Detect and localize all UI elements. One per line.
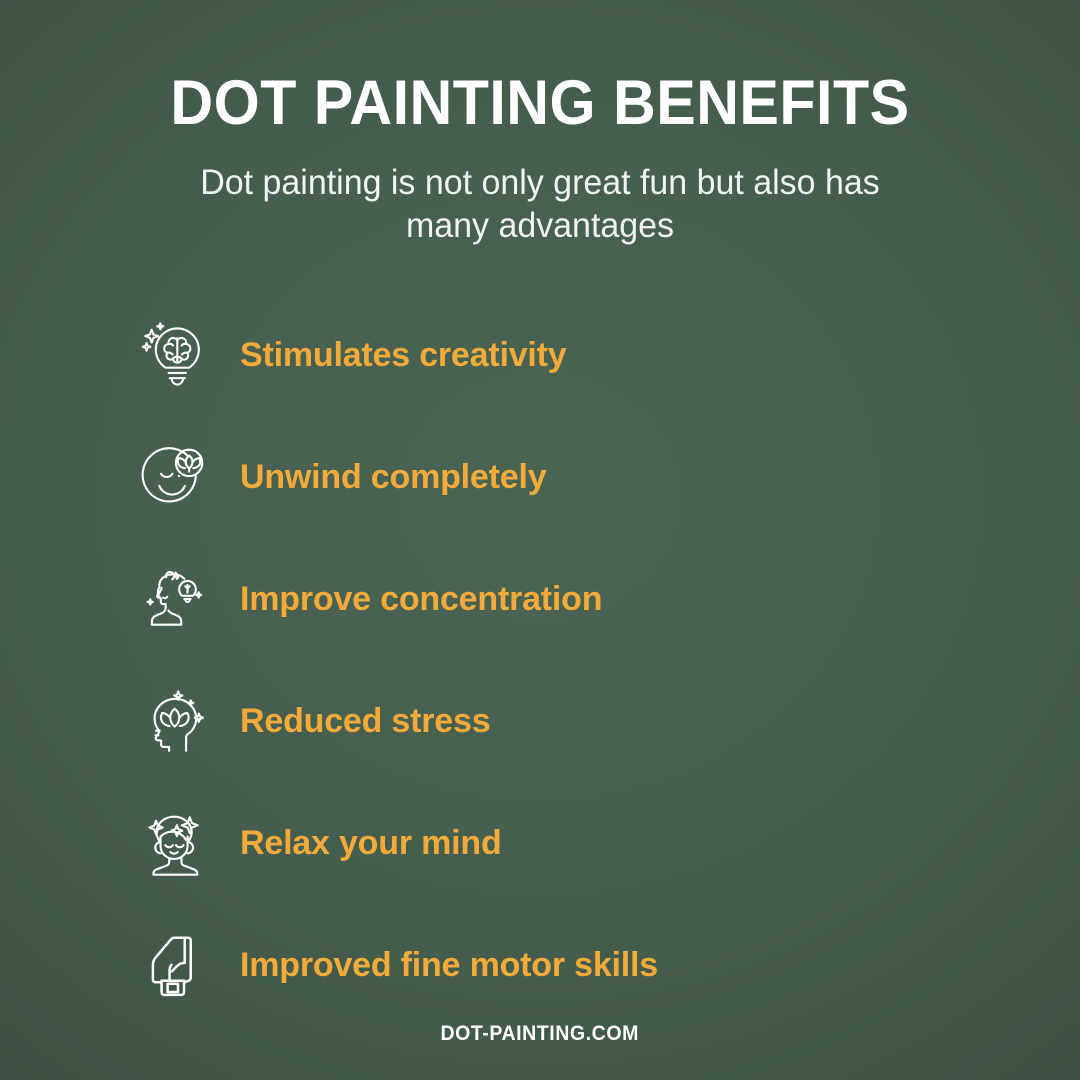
poster-canvas: DOT PAINTING BENEFITS Dot painting is no… [0, 0, 1080, 1080]
website-url: DOT-PAINTING.COM [441, 1022, 639, 1046]
benefit-label: Reduced stress [240, 702, 490, 741]
head-profile-lightbulb-icon [136, 560, 214, 638]
poster-header: DOT PAINTING BENEFITS Dot painting is no… [0, 0, 1080, 248]
list-item: Relax your mind [136, 782, 1036, 904]
benefits-list: Stimulates creativity [136, 294, 1036, 1026]
hand-holding-object-icon [136, 926, 214, 1004]
benefit-label: Unwind completely [240, 458, 546, 497]
page-title: DOT PAINTING BENEFITS [32, 72, 1047, 135]
list-item: Unwind completely [136, 416, 1036, 538]
benefit-label: Improved fine motor skills [240, 946, 658, 985]
poster-footer: DOT-PAINTING.COM [0, 1022, 1080, 1046]
benefit-label: Relax your mind [240, 824, 502, 863]
benefit-label: Stimulates creativity [240, 336, 567, 375]
lightbulb-brain-sparkle-icon [136, 316, 214, 394]
head-lotus-sparkle-icon [136, 682, 214, 760]
list-item: Stimulates creativity [136, 294, 1036, 416]
list-item: Improve concentration [136, 538, 1036, 660]
list-item: Reduced stress [136, 660, 1036, 782]
page-subtitle: Dot painting is not only great fun but a… [157, 135, 923, 248]
relaxed-face-sparkle-icon [136, 804, 214, 882]
smiling-face-flower-icon [136, 438, 214, 516]
benefit-label: Improve concentration [240, 580, 602, 619]
list-item: Improved fine motor skills [136, 904, 1036, 1026]
